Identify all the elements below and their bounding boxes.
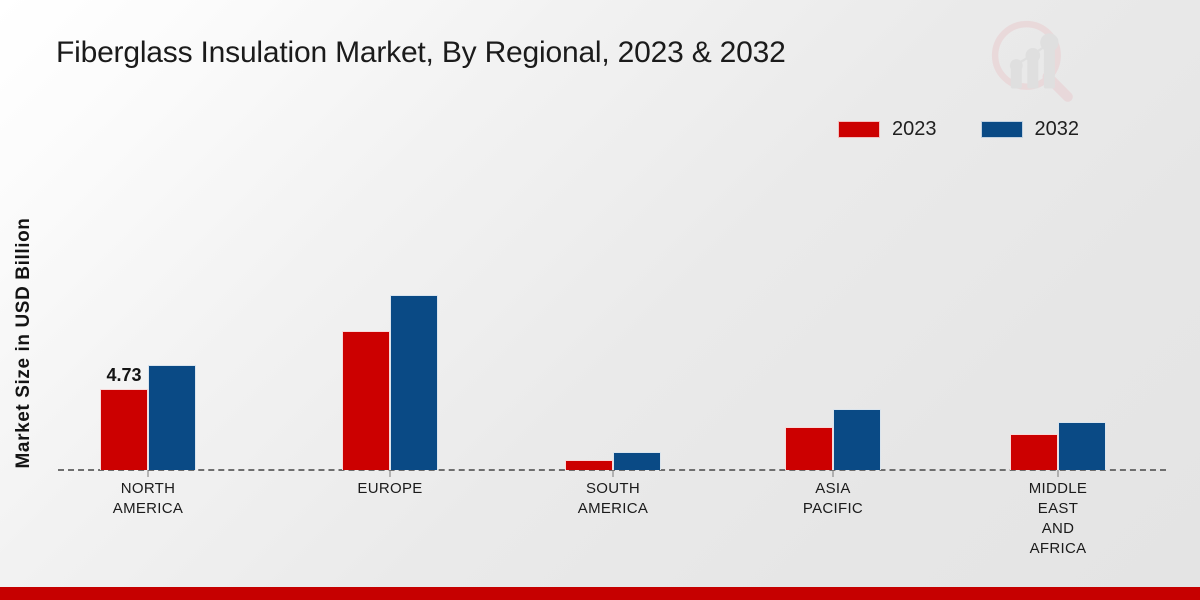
bar-2023-3[interactable] — [785, 427, 833, 470]
legend-item-2023[interactable]: 2023 — [838, 118, 937, 141]
bar-2023-2[interactable] — [565, 460, 613, 470]
legend-label-2023: 2023 — [892, 118, 937, 141]
bar-group-bars — [310, 170, 470, 470]
bar-2032-2[interactable] — [613, 452, 661, 470]
category-label-line: AFRICA — [963, 539, 1153, 559]
category-label-line: EUROPE — [295, 479, 485, 499]
x-axis-tick — [148, 470, 149, 477]
category-label-line: AND — [963, 519, 1153, 539]
bar-2023-0[interactable]: 4.73 — [100, 389, 148, 470]
x-axis-category-label: NORTHAMERICA — [53, 479, 243, 519]
x-axis-tick — [833, 470, 834, 477]
category-label-line: EAST — [963, 499, 1153, 519]
legend-label-2032: 2032 — [1035, 118, 1080, 141]
x-axis-category-label: MIDDLEEASTANDAFRICA — [963, 479, 1153, 559]
bar-group-bars — [753, 170, 913, 470]
category-label-line: AMERICA — [53, 499, 243, 519]
x-axis-category-label: SOUTHAMERICA — [518, 479, 708, 519]
bar-value-label: 4.73 — [106, 365, 141, 386]
bar-group-bars — [978, 170, 1138, 470]
bar-2023-4[interactable] — [1010, 434, 1058, 470]
watermark-logo-icon — [985, 14, 1077, 106]
bar-2032-3[interactable] — [833, 409, 881, 470]
bar-group: ASIAPACIFIC — [753, 170, 913, 470]
category-label-line: ASIA — [738, 479, 928, 499]
category-label-line: NORTH — [53, 479, 243, 499]
page-title: Fiberglass Insulation Market, By Regiona… — [56, 36, 786, 70]
plot-area: 4.73NORTHAMERICAEUROPESOUTHAMERICAASIAPA… — [58, 170, 1166, 470]
bar-group: SOUTHAMERICA — [533, 170, 693, 470]
category-label-line: MIDDLE — [963, 479, 1153, 499]
bar-group: 4.73NORTHAMERICA — [68, 170, 228, 470]
category-label-line: PACIFIC — [738, 499, 928, 519]
x-axis-category-label: EUROPE — [295, 479, 485, 499]
legend-item-2032[interactable]: 2032 — [981, 118, 1080, 141]
x-axis-tick — [390, 470, 391, 477]
bar-2023-1[interactable] — [342, 331, 390, 470]
bar-group: EUROPE — [310, 170, 470, 470]
category-label-line: SOUTH — [518, 479, 708, 499]
footer-band — [0, 587, 1200, 600]
bar-group: MIDDLEEASTANDAFRICA — [978, 170, 1138, 470]
x-axis-tick — [1058, 470, 1059, 477]
x-axis-category-label: ASIAPACIFIC — [738, 479, 928, 519]
bar-2032-4[interactable] — [1058, 422, 1106, 470]
y-axis-title: Market Size in USD Billion — [13, 163, 35, 523]
bar-2032-1[interactable] — [390, 295, 438, 470]
chart-canvas: Fiberglass Insulation Market, By Regiona… — [0, 0, 1200, 600]
chart-legend: 2023 2032 — [838, 118, 1079, 141]
bar-group-bars: 4.73 — [68, 170, 228, 470]
x-axis-tick — [613, 470, 614, 477]
bar-2032-0[interactable] — [148, 365, 196, 470]
bar-group-bars — [533, 170, 693, 470]
legend-swatch-2023 — [838, 121, 880, 138]
legend-swatch-2032 — [981, 121, 1023, 138]
category-label-line: AMERICA — [518, 499, 708, 519]
